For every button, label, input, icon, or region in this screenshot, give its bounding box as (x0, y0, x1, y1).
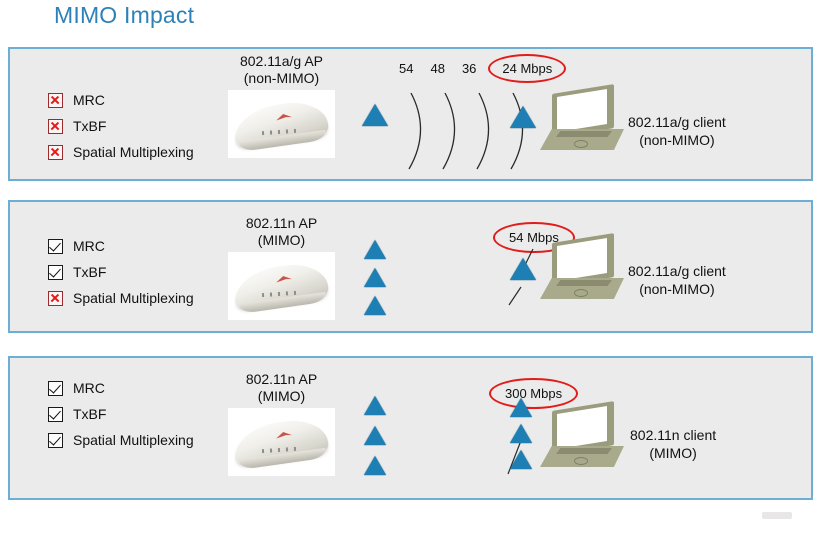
ap-antenna-icon (364, 296, 386, 315)
feature-row[interactable]: TxBF (48, 259, 194, 285)
access-point-block: 802.11n AP (MIMO) (228, 215, 335, 320)
client-caption-line1: 802.11a/g client (628, 262, 726, 280)
ap-antenna-icon (364, 268, 386, 287)
ap-shell-shape (234, 98, 328, 149)
access-point-block: 802.11a/g AP (non-MIMO) (228, 53, 335, 158)
checked-checkbox-icon[interactable] (48, 265, 63, 280)
laptop-keyboard (556, 448, 612, 454)
rate-label: 48 (430, 61, 444, 76)
ap-caption-line1: 802.11n AP (228, 215, 335, 232)
feature-checklist: MRC TxBF Spatial Multiplexing (48, 87, 194, 165)
client-caption-line1: 802.11n client (630, 426, 716, 444)
feature-label: TxBF (73, 118, 106, 134)
rate-label: 54 (399, 61, 413, 76)
ap-caption-line1: 802.11a/g AP (228, 53, 335, 70)
laptop-trackpad (574, 457, 588, 465)
feature-row[interactable]: MRC (48, 87, 194, 113)
access-point-block: 802.11n AP (MIMO) (228, 371, 335, 476)
ap-antenna-icon (362, 104, 388, 126)
signal-wave-arcs-icon (405, 89, 550, 174)
access-point-image (228, 90, 335, 158)
highlighted-rate-label: 24 Mbps (493, 59, 561, 78)
feature-row[interactable]: Spatial Multiplexing (48, 285, 194, 311)
ap-antenna-icon (364, 426, 386, 445)
checked-checkbox-icon[interactable] (48, 433, 63, 448)
ap-antenna-icon (364, 240, 386, 259)
feature-row[interactable]: Spatial Multiplexing (48, 427, 194, 453)
client-antenna-icon (510, 258, 536, 280)
laptop-trackpad (574, 289, 588, 297)
feature-row[interactable]: MRC (48, 375, 194, 401)
checked-checkbox-icon[interactable] (48, 407, 63, 422)
ap-caption-line2: (MIMO) (228, 388, 335, 405)
feature-label: TxBF (73, 264, 106, 280)
client-antenna-icon (510, 106, 536, 128)
laptop-icon (540, 406, 624, 468)
feature-label: Spatial Multiplexing (73, 432, 194, 448)
ap-caption-line1: 802.11n AP (228, 371, 335, 388)
laptop-icon (540, 89, 624, 151)
crossed-checkbox-icon[interactable] (48, 291, 63, 306)
ap-antenna-icon (364, 456, 386, 475)
laptop-icon (540, 238, 624, 300)
ap-antenna-icon (364, 396, 386, 415)
laptop-keyboard (556, 131, 612, 137)
feature-row[interactable]: Spatial Multiplexing (48, 139, 194, 165)
scenario-panel-mimo-ap-legacy-client: MRC TxBF Spatial Multiplexing 802.11n AP… (8, 200, 813, 333)
access-point-image (228, 252, 335, 320)
client-antenna-icon (510, 424, 532, 443)
client-caption: 802.11n client (MIMO) (630, 426, 716, 462)
client-caption-line1: 802.11a/g client (628, 113, 726, 131)
page-title: MIMO Impact (54, 2, 194, 29)
crossed-checkbox-icon[interactable] (48, 93, 63, 108)
scenario-panel-full-mimo: MRC TxBF Spatial Multiplexing 802.11n AP… (8, 356, 813, 500)
rate-label: 36 (462, 61, 476, 76)
checked-checkbox-icon[interactable] (48, 381, 63, 396)
ap-shell-shape (234, 260, 328, 311)
laptop-trackpad (574, 140, 588, 148)
client-caption-line2: (MIMO) (630, 444, 716, 462)
client-caption: 802.11a/g client (non-MIMO) (628, 262, 726, 298)
laptop-keyboard (556, 280, 612, 286)
checked-checkbox-icon[interactable] (48, 239, 63, 254)
ap-caption-line2: (MIMO) (228, 232, 335, 249)
client-antenna-icon (510, 398, 532, 417)
client-antenna-icon (510, 450, 532, 469)
feature-label: MRC (73, 380, 105, 396)
client-caption-line2: (non-MIMO) (628, 131, 726, 149)
feature-checklist: MRC TxBF Spatial Multiplexing (48, 233, 194, 311)
crossed-checkbox-icon[interactable] (48, 119, 63, 134)
client-caption: 802.11a/g client (non-MIMO) (628, 113, 726, 149)
crossed-checkbox-icon[interactable] (48, 145, 63, 160)
image-artifact (762, 512, 792, 519)
ap-shell-shape (234, 416, 328, 467)
rate-label-row: 54 48 36 24 Mbps (399, 59, 561, 78)
access-point-image (228, 408, 335, 476)
feature-label: Spatial Multiplexing (73, 144, 194, 160)
feature-row[interactable]: TxBF (48, 113, 194, 139)
feature-row[interactable]: TxBF (48, 401, 194, 427)
feature-checklist: MRC TxBF Spatial Multiplexing (48, 375, 194, 453)
feature-row[interactable]: MRC (48, 233, 194, 259)
ap-caption-line2: (non-MIMO) (228, 70, 335, 87)
feature-label: MRC (73, 238, 105, 254)
feature-label: MRC (73, 92, 105, 108)
feature-label: Spatial Multiplexing (73, 290, 194, 306)
client-caption-line2: (non-MIMO) (628, 280, 726, 298)
feature-label: TxBF (73, 406, 106, 422)
scenario-panel-non-mimo: MRC TxBF Spatial Multiplexing 802.11a/g … (8, 47, 813, 181)
